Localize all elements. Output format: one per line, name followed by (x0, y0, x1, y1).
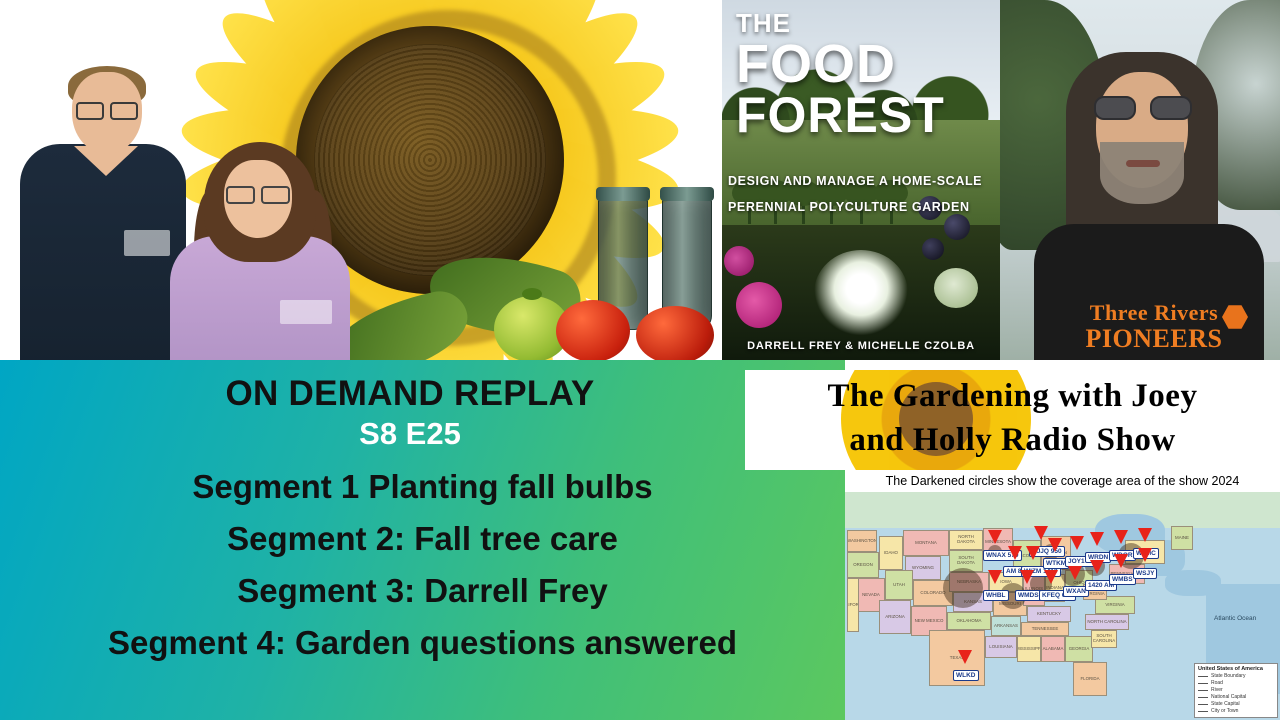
berry (922, 238, 944, 260)
legend-label: State Capital (1211, 701, 1240, 708)
book-subtitle-line1: DESIGN AND MANAGE A HOME-SCALE (728, 168, 996, 194)
legend-label: River (1211, 687, 1223, 694)
ocean-label: Atlantic Ocean (1214, 614, 1274, 623)
map-state: NORTH CAROLINA (1085, 614, 1129, 630)
map-state: MAINE (1171, 526, 1193, 550)
book-title-block: THE FOOD FOREST (722, 8, 1000, 141)
map-state: MISSISSIPPI (1017, 636, 1041, 662)
clover-flower (736, 282, 782, 328)
segment-1: Segment 1 Planting fall bulbs (0, 468, 845, 506)
glasses-icon (76, 102, 138, 116)
map-legend: United States of America State BoundaryR… (1194, 663, 1278, 718)
map-state: IDAHO (879, 536, 903, 570)
book-title-food: FOOD (736, 39, 1000, 89)
episode-info-panel: ON DEMAND REPLAY S8 E25 Segment 1 Planti… (0, 360, 845, 720)
map-state: OKLAHOMA (947, 612, 991, 630)
legend-label: Road (1211, 680, 1223, 687)
station-label: WMDS (1015, 590, 1042, 601)
guest-photo-darrell-frey: Three Rivers PIONEERS (1000, 0, 1280, 360)
legend-items: State BoundaryRoadRiverNational CapitalS… (1198, 673, 1274, 715)
map-state: OREGON (847, 552, 879, 578)
white-flower (814, 250, 908, 336)
clover-flower (724, 246, 754, 276)
legend-label: City or Town (1211, 708, 1238, 715)
legend-swatch (1198, 683, 1208, 684)
map-caption: The Darkened circles show the coverage a… (845, 470, 1280, 492)
beard (1100, 142, 1184, 204)
legend-item: State Capital (1198, 701, 1274, 708)
book-subtitle-line2: PERENNIAL POLYCULTURE GARDEN (728, 194, 996, 220)
map-state: ALABAMA (1041, 636, 1065, 662)
host-joey (18, 72, 186, 360)
map-state: NORTH DAKOTA (949, 530, 983, 550)
mouth (1126, 160, 1160, 167)
station-label: WHBL (983, 590, 1009, 601)
segment-2: Segment 2: Fall tree care (0, 520, 845, 558)
legend-item: National Capital (1198, 694, 1274, 701)
coverage-circle (943, 568, 983, 608)
legend-swatch (1198, 711, 1208, 712)
sunglasses-icon (1094, 96, 1192, 120)
tshirt-text-line2: PIONEERS (1064, 324, 1244, 354)
legend-item: Road (1198, 680, 1274, 687)
legend-swatch (1198, 704, 1208, 705)
map-state: MONTANA (903, 530, 949, 556)
legend-title: United States of America (1198, 666, 1274, 672)
map-state: ARIZONA (879, 600, 911, 634)
legend-swatch (1198, 690, 1208, 691)
show-title-line2: and Holly Radio Show (745, 422, 1280, 459)
station-label: WMBS (1109, 574, 1136, 585)
green-fruit (934, 268, 978, 308)
map-state: TENNESSEE (1021, 622, 1069, 636)
glasses-icon (226, 186, 290, 200)
book-cover-food-forest: THE FOOD FOREST DESIGN AND MANAGE A HOME… (722, 0, 1000, 360)
map-state: KENTUCKY (1027, 606, 1071, 622)
map-state: LOUISIANA (985, 636, 1017, 658)
map-state: ARKANSAS (991, 616, 1021, 636)
map-state: CALIFORNIA (847, 578, 859, 632)
host-holly (170, 150, 350, 360)
book-subtitle: DESIGN AND MANAGE A HOME-SCALE PERENNIAL… (728, 168, 996, 220)
map-state: FLORIDA (1073, 662, 1107, 696)
map-body: Atlantic Ocean United States of America … (845, 492, 1280, 720)
station-label: WSJY (1133, 568, 1157, 579)
legend-item: State Boundary (1198, 673, 1274, 680)
legend-item: River (1198, 687, 1274, 694)
legend-swatch (1198, 697, 1208, 698)
canada-region (845, 492, 1280, 528)
legend-swatch (1198, 676, 1208, 677)
station-label: WLKD (953, 670, 979, 681)
red-tomato (556, 300, 630, 360)
segment-3: Segment 3: Darrell Frey (0, 572, 845, 610)
map-state: SOUTH CAROLINA (1091, 630, 1117, 648)
coverage-map: The Darkened circles show the coverage a… (845, 470, 1280, 720)
hosts-sunflower-photo (0, 0, 722, 360)
book-authors: DARRELL FREY & MICHELLE CZOLBA (722, 340, 1000, 352)
book-title-forest: FOREST (736, 89, 1000, 141)
legend-label: National Capital (1211, 694, 1246, 701)
legend-label: State Boundary (1211, 673, 1245, 680)
promo-graphic: THE FOOD FOREST DESIGN AND MANAGE A HOME… (0, 0, 1280, 720)
map-state: GEORGIA (1065, 636, 1093, 662)
shirt-logo (124, 230, 170, 256)
on-demand-replay-title: ON DEMAND REPLAY (0, 374, 820, 414)
episode-number: S8 E25 (0, 416, 820, 452)
red-tomato (636, 306, 714, 360)
map-state: UTAH (885, 570, 913, 600)
shirt-logo (280, 300, 332, 324)
tshirt-text-line1: Three Rivers (1064, 300, 1244, 326)
show-title-line1: The Gardening with Joey (745, 378, 1280, 415)
legend-item: City or Town (1198, 708, 1274, 715)
segment-4: Segment 4: Garden questions answered (0, 624, 845, 662)
map-state: WASHINGTON (847, 530, 877, 552)
show-title-card: The Gardening with Joey and Holly Radio … (745, 370, 1280, 470)
